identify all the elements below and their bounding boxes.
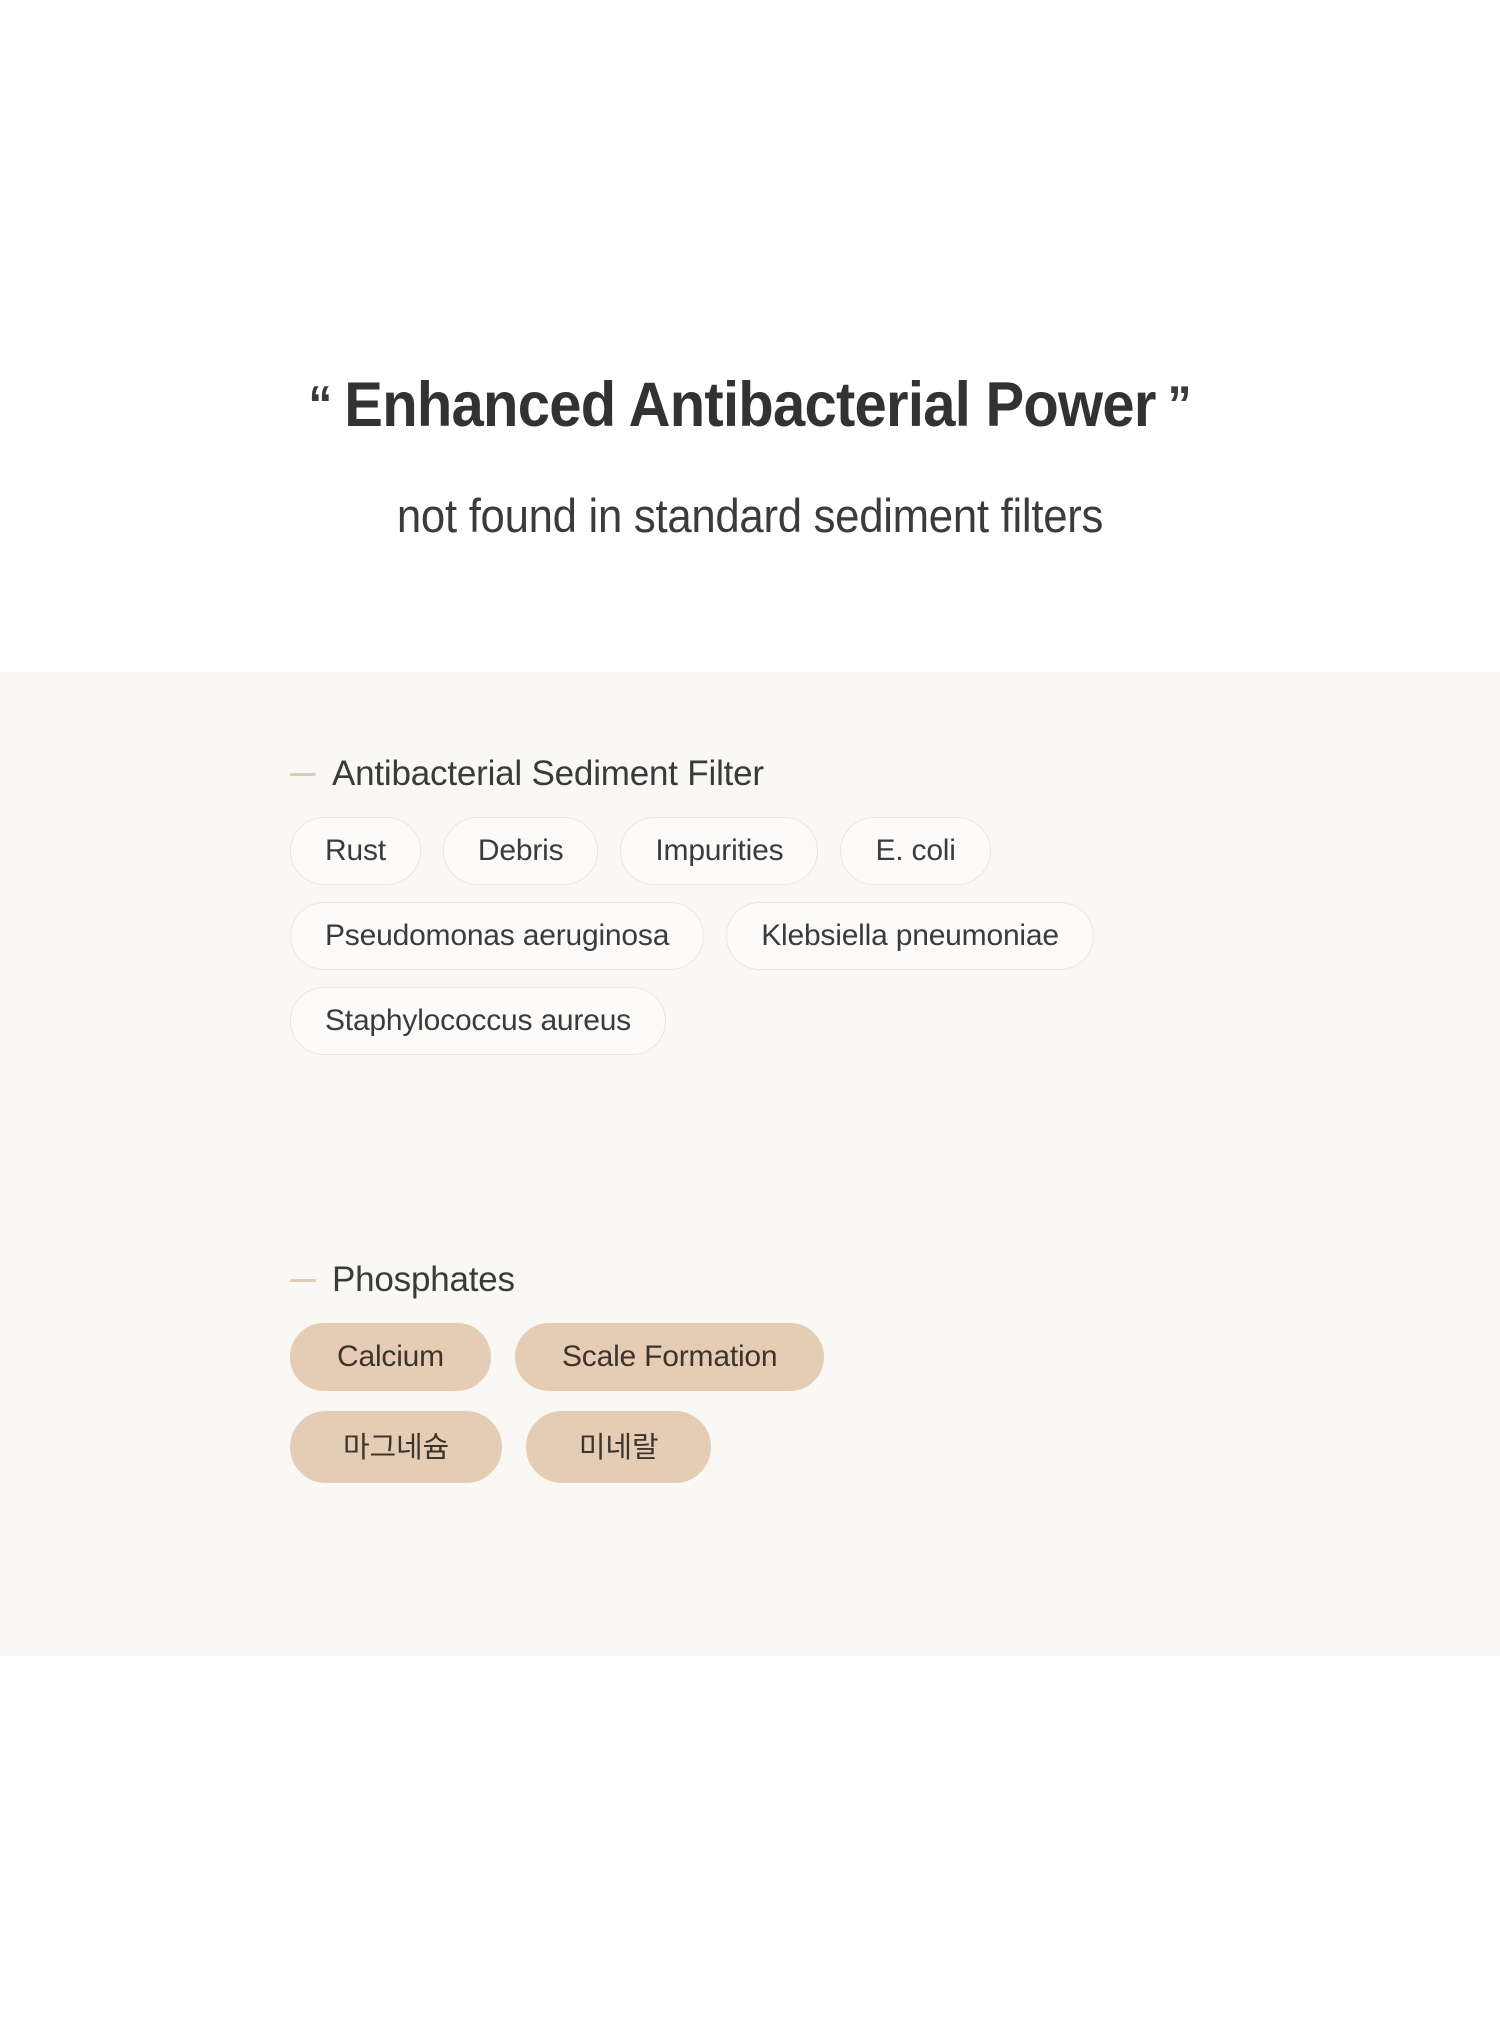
pill-row: Staphylococcus aureus [290, 987, 1350, 1055]
close-quote-icon: ” [1168, 376, 1192, 434]
section-header: Phosphates [290, 1260, 1350, 1300]
pill-row: Rust Debris Impurities E. coli [290, 817, 1350, 885]
section-phosphates: Phosphates Calcium Scale Formation 마그네슘 … [290, 1260, 1350, 1503]
page-title: “Enhanced Antibacterial Power” [60, 370, 1440, 441]
pill-item: Impurities [620, 817, 818, 885]
section-antibacterial-sediment-filter: Antibacterial Sediment Filter Rust Debri… [290, 754, 1350, 1055]
page-subtitle: not found in standard sediment filters [53, 488, 1448, 543]
dash-icon [290, 773, 316, 776]
hero-section: “Enhanced Antibacterial Power” not found… [0, 0, 1500, 672]
pill-item: E. coli [840, 817, 990, 885]
pill-row: Pseudomonas aeruginosa Klebsiella pneumo… [290, 902, 1350, 970]
pill-item: 마그네슘 [290, 1411, 502, 1483]
pill-item: Scale Formation [515, 1323, 824, 1391]
pill-row: 마그네슘 미네랄 [290, 1411, 1350, 1483]
dash-icon [290, 1279, 316, 1282]
pill-item: Staphylococcus aureus [290, 987, 666, 1055]
headline-text: Enhanced Antibacterial Power [344, 370, 1155, 440]
pill-item: 미네랄 [526, 1411, 711, 1483]
promo-page: “Enhanced Antibacterial Power” not found… [0, 0, 1500, 2040]
open-quote-icon: “ [308, 376, 332, 434]
pill-row: Calcium Scale Formation [290, 1323, 1350, 1391]
section-title: Phosphates [332, 1260, 515, 1300]
pill-item: Debris [443, 817, 599, 885]
section-title: Antibacterial Sediment Filter [332, 754, 764, 794]
pill-item: Calcium [290, 1323, 491, 1391]
section-header: Antibacterial Sediment Filter [290, 754, 1350, 794]
pill-item: Pseudomonas aeruginosa [290, 902, 704, 970]
pill-item: Klebsiella pneumoniae [726, 902, 1094, 970]
content-band: Antibacterial Sediment Filter Rust Debri… [0, 672, 1500, 1656]
pill-item: Rust [290, 817, 421, 885]
